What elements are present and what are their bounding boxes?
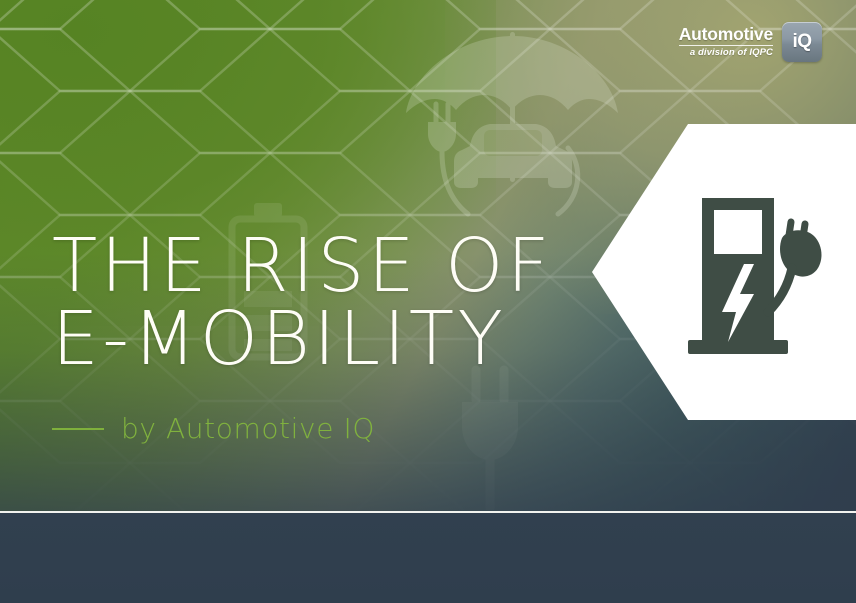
- logo-title: Automotive: [679, 25, 773, 43]
- byline-text: by Automotive IQ: [121, 412, 375, 445]
- logo-text-block: Automotive a division of IQPC: [679, 25, 773, 59]
- byline-dash-rule: [52, 428, 104, 430]
- headline-line-2: E-MOBILITY: [52, 303, 612, 376]
- page-title: THE RISE OF E-MOBILITY: [52, 230, 612, 375]
- headline-line-1: THE RISE OF: [52, 230, 612, 303]
- logo-divider: [679, 45, 773, 46]
- poster-root: Automotive a division of IQPC iQ THE RIS…: [0, 0, 856, 603]
- byline: by Automotive IQ: [52, 412, 375, 445]
- bottom-panel: [0, 513, 856, 603]
- logo-subtitle: a division of IQPC: [690, 48, 773, 58]
- logo-iq-badge: iQ: [782, 22, 822, 62]
- brand-logo[interactable]: Automotive a division of IQPC iQ: [679, 22, 822, 62]
